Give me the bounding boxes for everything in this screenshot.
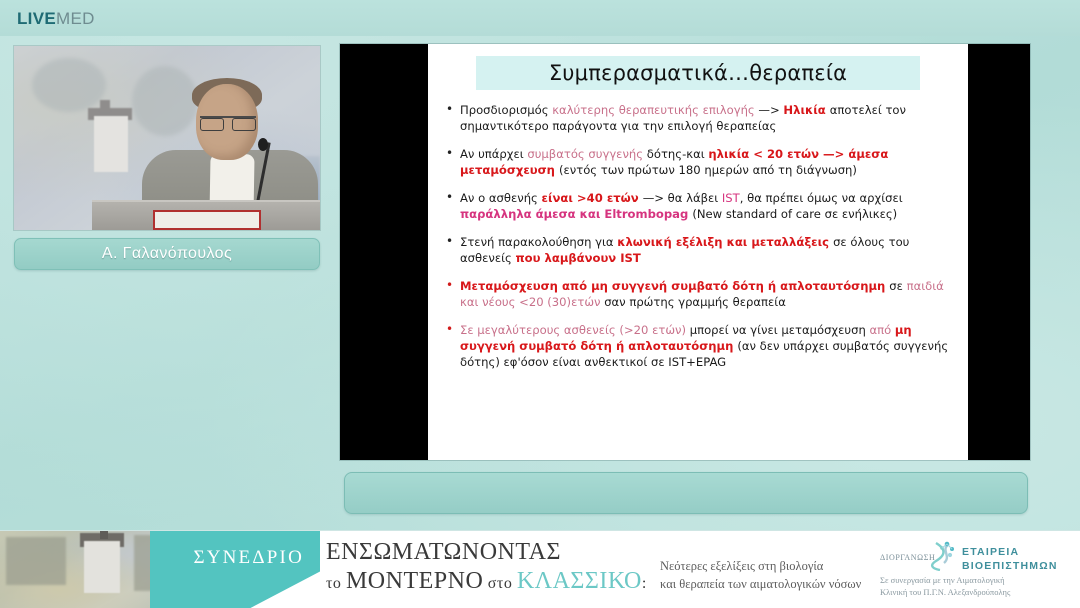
- bullet-text-run: Αν ο ασθενής: [460, 191, 542, 205]
- painting-chimney-shape: [100, 530, 108, 539]
- slide-bullet-5: Μεταμόσχευση από μη συγγενή συμβατό δότη…: [438, 278, 962, 311]
- congress-title-modern: ΜΟΝΤΕΡΝΟ: [346, 568, 483, 594]
- congress-word-block: ΣΥΝΕΔΡΙΟ: [150, 531, 320, 608]
- session-title-bar: [344, 472, 1028, 514]
- bullet-text-run: Στενή παρακολούθηση για: [460, 235, 617, 249]
- podium: [92, 200, 320, 230]
- bullet-text-run: παράλληλα άμεσα και Eltrombopag: [460, 207, 692, 221]
- bullet-text-run: είναι >40 ετών: [542, 191, 643, 205]
- podium-emblem: [153, 210, 261, 230]
- congress-title-mid: στο: [483, 575, 517, 592]
- congress-title-line1: ΕΝΣΩΜΑΤΩΝΟΝΤΑΣ: [326, 539, 656, 566]
- slide-title: Συμπερασματικά…θεραπεία: [549, 61, 847, 85]
- bullet-text-run: Μεταμόσχευση από μη συγγενή συμβατό δότη…: [460, 279, 889, 293]
- mural-house-shape: [94, 116, 128, 172]
- bullet-text-run: , θα πρέπει όμως να αρχίσει: [740, 191, 903, 205]
- mural-chimney-shape: [100, 100, 110, 112]
- mural-tree-icon: [132, 66, 198, 136]
- congress-subtitle-line1: Νεότερες εξελίξεις στη βιολογία: [660, 557, 880, 575]
- speaker-name-label: Α. Γαλανόπουλος: [102, 245, 232, 263]
- slide-title-band: Συμπερασματικά…θεραπεία: [476, 56, 920, 90]
- bullet-text-run: —>: [758, 103, 783, 117]
- congress-title: ΕΝΣΩΜΑΤΩΝΟΝΤΑΣ το ΜΟΝΤΕΡΝΟ στο ΚΛΑΣΣΙΚΟ:: [326, 539, 656, 595]
- bullet-text-run: συμβατός συγγενής: [527, 147, 646, 161]
- slide-bullet-2: Αν υπάρχει συμβατός συγγενής δότης-και η…: [438, 146, 962, 179]
- bullet-text-run: Σε μεγαλύτερους ασθενείς (>20 ετών): [460, 323, 690, 337]
- congress-word-label: ΣΥΝΕΔΡΙΟ: [193, 547, 304, 569]
- slide-bullet-6: Σε μεγαλύτερους ασθενείς (>20 ετών) μπορ…: [438, 322, 962, 371]
- organizer-block: ΔΙΟΡΓΑΝΩΣΗ ΕΤΑΙΡΕΙΑ ΒΙΟΕΠΙΣΤΗΜΩΝ Σε συνε…: [880, 537, 1078, 603]
- logo-med-text: MED: [56, 9, 95, 28]
- slide-bullet-3: Αν ο ασθενής είναι >40 ετών —> θα λάβει …: [438, 190, 962, 223]
- bullet-text-run: Ηλικία: [783, 103, 829, 117]
- organizer-cooperation: Σε συνεργασία με την Αιματολογική Κλινικ…: [880, 575, 1070, 599]
- organizer-name: ΕΤΑΙΡΕΙΑ ΒΙΟΕΠΙΣΤΗΜΩΝ: [962, 545, 1058, 573]
- bullet-text-run: IST: [722, 191, 740, 205]
- bullet-text-run: καλύτερης θεραπευτικής επιλογής: [552, 103, 758, 117]
- presentation-slide: Συμπερασματικά…θεραπεία Προσδιορισμός κα…: [428, 44, 968, 460]
- slide-bullet-1: Προσδιορισμός καλύτερης θεραπευτικής επι…: [438, 102, 962, 135]
- congress-banner: ΣΥΝΕΔΡΙΟ ΕΝΣΩΜΑΤΩΝΟΝΤΑΣ το ΜΟΝΤΕΡΝΟ στο …: [0, 530, 1080, 608]
- logo-live-text: LIVE: [17, 9, 56, 28]
- organizer-label: ΔΙΟΡΓΑΝΩΣΗ: [880, 553, 935, 562]
- painting-tree-shape: [6, 537, 66, 585]
- microphone-icon: [258, 138, 268, 151]
- speaker-video-panel[interactable]: [14, 46, 320, 230]
- congress-subtitle-line2: και θεραπεία των αιματολογικών νόσων: [660, 575, 880, 593]
- bullet-text-run: Αν υπάρχει: [460, 147, 527, 161]
- slide-bullet-4: Στενή παρακολούθηση για κλωνική εξέλιξη …: [438, 234, 962, 267]
- bullet-text-run: δότης-και: [647, 147, 709, 161]
- bullet-text-run: από: [869, 323, 894, 337]
- organizer-name-line1: ΕΤΑΙΡΕΙΑ: [962, 545, 1058, 559]
- mural-tree-icon: [32, 58, 106, 112]
- organizer-coop-line1: Σε συνεργασία με την Αιματολογική: [880, 575, 1070, 587]
- bullet-text-run: —> θα λάβει: [643, 191, 722, 205]
- slide-video-panel[interactable]: Συμπερασματικά…θεραπεία Προσδιορισμός κα…: [340, 44, 1030, 460]
- bullet-text-run: (εντός των πρώτων 180 ημερών από τη διάγ…: [559, 163, 857, 177]
- congress-title-line2: το ΜΟΝΤΕΡΝΟ στο ΚΛΑΣΣΙΚΟ:: [326, 568, 656, 595]
- bullet-text-run: σε: [889, 279, 906, 293]
- dna-helix-icon: [930, 541, 956, 571]
- congress-title-pre: το: [326, 575, 346, 592]
- organizer-name-line2: ΒΙΟΕΠΙΣΤΗΜΩΝ: [962, 559, 1058, 573]
- bullet-text-run: που λαμβάνουν IST: [516, 251, 641, 265]
- slide-bullet-list: Προσδιορισμός καλύτερης θεραπευτικής επι…: [438, 102, 962, 382]
- speaker-name-plate: Α. Γαλανόπουλος: [14, 238, 320, 270]
- bullet-text-run: Προσδιορισμός: [460, 103, 552, 117]
- glasses-icon: [200, 116, 256, 128]
- top-bar: LIVEMED: [0, 0, 1080, 36]
- congress-title-classic: ΚΛΑΣΣΙΚΟ: [517, 568, 642, 594]
- bullet-text-run: μπορεί να γίνει μεταμόσχευση: [690, 323, 870, 337]
- livemed-logo[interactable]: LIVEMED: [17, 9, 95, 29]
- bullet-text-run: (New standard of care σε ενήλικες): [692, 207, 897, 221]
- congress-subtitle: Νεότερες εξελίξεις στη βιολογία και θερα…: [660, 557, 880, 593]
- bullet-text-run: σαν πρώτης γραμμής θεραπεία: [604, 295, 786, 309]
- bullet-text-run: κλωνική εξέλιξη και μεταλλάξεις: [617, 235, 833, 249]
- congress-title-colon: :: [642, 575, 647, 592]
- organizer-coop-line2: Κλινική του Π.Γ.Ν. Αλεξανδρούπολης: [880, 587, 1070, 599]
- painting-house-shape: [84, 541, 120, 593]
